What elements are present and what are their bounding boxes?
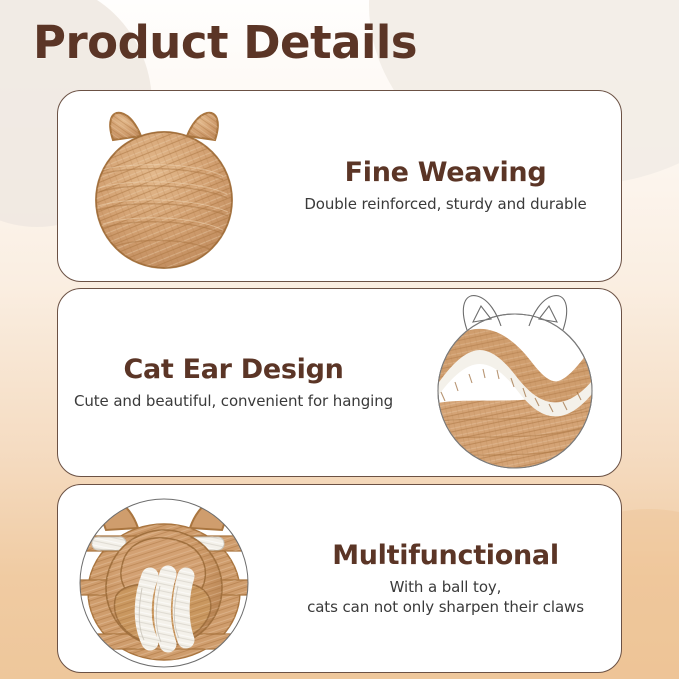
feature-text-fine-weaving: Fine Weaving Double reinforced, sturdy a… <box>270 157 621 215</box>
product-image-ball-toy <box>58 485 270 672</box>
card-headline: Multifunctional <box>280 540 611 571</box>
feature-card-fine-weaving: Fine Weaving Double reinforced, sturdy a… <box>57 90 622 282</box>
rope-ball-toy-illustration <box>64 488 264 670</box>
feature-text-multifunctional: Multifunctional With a ball toy, cats ca… <box>270 540 621 618</box>
feature-card-cat-ear-design: Cat Ear Design Cute and beautiful, conve… <box>57 288 622 477</box>
woven-cat-mat-illustration <box>75 100 253 272</box>
card-subline-row: Cute and beautiful, convenient for hangi… <box>68 392 399 412</box>
product-image-woven-mat <box>58 91 270 281</box>
card-subline-row: With a ball toy, <box>280 578 611 598</box>
card-subline-row: Double reinforced, sturdy and durable <box>280 195 611 215</box>
product-details-page: Product Details <box>0 0 679 679</box>
card-headline: Cat Ear Design <box>68 354 399 385</box>
card-subline: With a ball toy, cats can not only sharp… <box>280 578 611 618</box>
feature-card-multifunctional: Multifunctional With a ball toy, cats ca… <box>57 484 622 673</box>
card-subline-row: cats can not only sharpen their claws <box>280 598 611 618</box>
feature-text-cat-ear-design: Cat Ear Design Cute and beautiful, conve… <box>58 354 409 412</box>
card-subline: Double reinforced, sturdy and durable <box>280 195 611 215</box>
page-title: Product Details <box>33 16 417 69</box>
product-image-closeup-ear <box>409 289 621 476</box>
cat-ear-closeup-illustration <box>417 288 613 477</box>
card-headline: Fine Weaving <box>280 157 611 188</box>
card-subline: Cute and beautiful, convenient for hangi… <box>68 392 399 412</box>
